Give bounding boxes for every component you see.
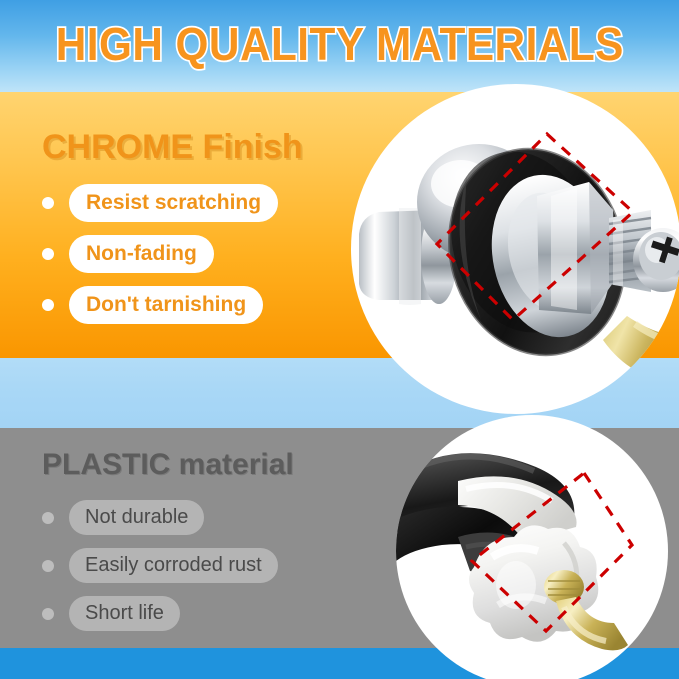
chrome-feature-list: Resist scratching Non-fading Don't tarni…: [42, 184, 303, 324]
bullet-dot-icon: [42, 248, 54, 260]
chrome-product-photo: [351, 84, 679, 414]
plastic-drawback-pill: Not durable: [69, 500, 204, 535]
list-item: Don't tarnishing: [42, 286, 303, 324]
product-infographic: HIGH QUALITY MATERIALS CHROME Finish Res…: [0, 0, 679, 679]
bullet-dot-icon: [42, 560, 54, 572]
plastic-drawback-pill: Short life: [69, 596, 180, 631]
list-item: Non-fading: [42, 235, 303, 273]
list-item: Not durable: [42, 500, 294, 535]
plastic-text-block: PLASTIC material Not durable Easily corr…: [42, 450, 294, 631]
chrome-feature-pill: Don't tarnishing: [69, 286, 263, 324]
plastic-product-photo: [396, 415, 668, 679]
chrome-panel-title: CHROME Finish: [42, 130, 303, 164]
bullet-dot-icon: [42, 299, 54, 311]
plastic-drawback-pill: Easily corroded rust: [69, 548, 278, 583]
header-banner: HIGH QUALITY MATERIALS: [0, 0, 679, 92]
chrome-terminal-illustration: [351, 84, 679, 414]
bullet-dot-icon: [42, 197, 54, 209]
chrome-text-block: CHROME Finish Resist scratching Non-fadi…: [42, 130, 303, 324]
plastic-terminal-illustration: [396, 415, 668, 679]
chrome-feature-pill: Non-fading: [69, 235, 214, 273]
plastic-panel-title: PLASTIC material: [42, 450, 294, 480]
bullet-dot-icon: [42, 512, 54, 524]
chrome-feature-pill: Resist scratching: [69, 184, 278, 222]
list-item: Easily corroded rust: [42, 548, 294, 583]
page-title: HIGH QUALITY MATERIALS: [55, 21, 623, 67]
bullet-dot-icon: [42, 608, 54, 620]
list-item: Short life: [42, 596, 294, 631]
list-item: Resist scratching: [42, 184, 303, 222]
plastic-drawback-list: Not durable Easily corroded rust Short l…: [42, 500, 294, 631]
